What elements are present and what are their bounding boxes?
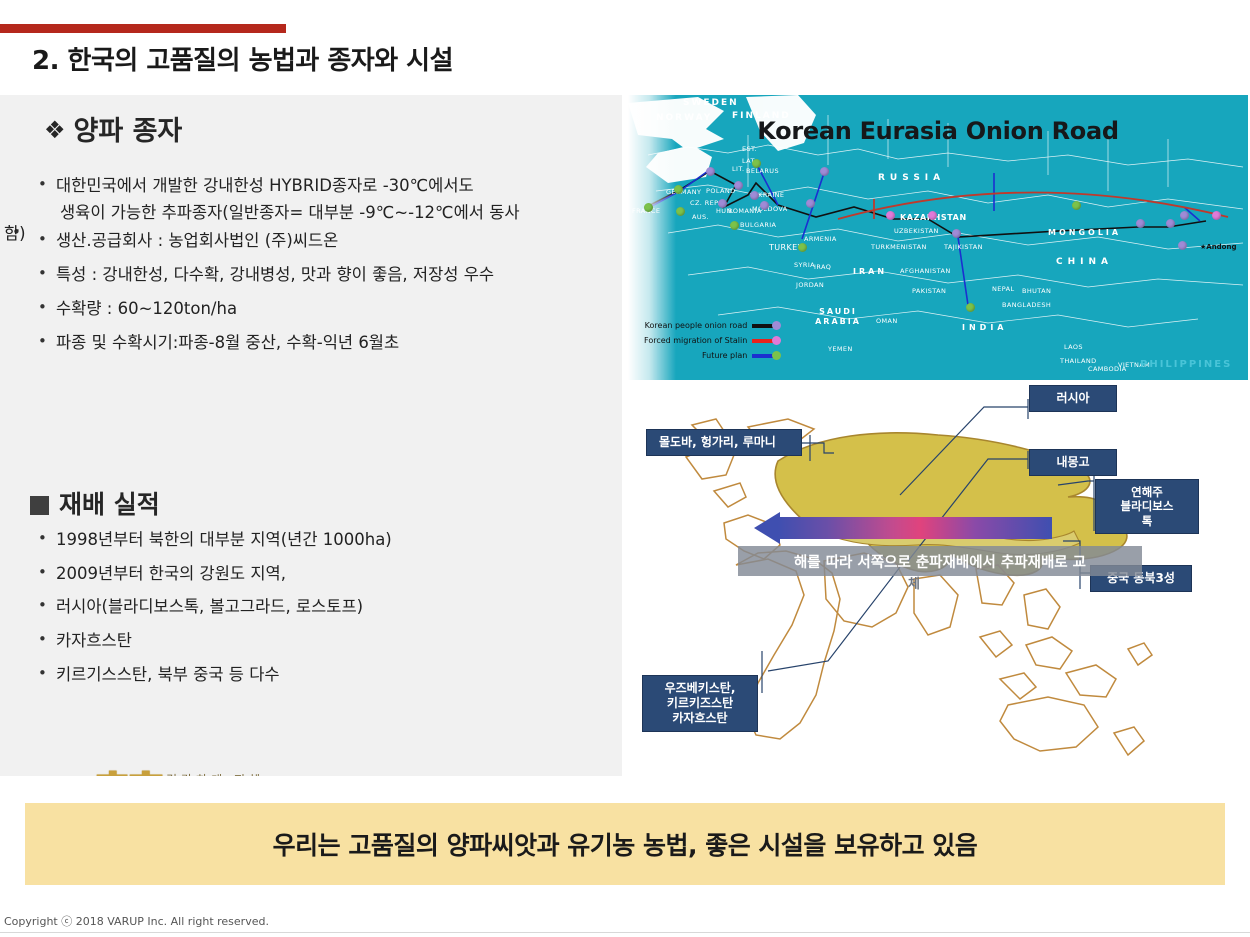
seed-bullet-1-line3: 함): [4, 221, 26, 248]
legend-item-future-plan: Future plan: [644, 351, 781, 360]
legend-dot-swatch: [772, 336, 781, 345]
country-label-belarus: BELARUS: [746, 167, 779, 175]
future-node: [798, 243, 807, 252]
summary-banner-text: 우리는 고품질의 양파씨앗과 유기농 농법, 좋은 시설을 보유하고 있음: [273, 826, 978, 862]
callout-primorye-line3: 톡: [1142, 514, 1153, 528]
stalin-route-node: [886, 211, 895, 220]
route-node: [750, 191, 759, 200]
country-label-poland: POLAND: [706, 187, 736, 195]
map-column: Korean Eurasia Onion Road SWEDEN FINLAND…: [628, 95, 1248, 776]
country-label-oman: OMAN: [876, 317, 898, 325]
country-label-nepal: NEPAL: [992, 285, 1015, 293]
slide-root: 2. 한국의 고품질의 농법과 종자와 시설 ❖양파 종자 대한민국에서 개발한…: [0, 0, 1250, 937]
list-item: 수확량 : 60~120ton/ha: [30, 296, 596, 323]
country-label-afghanistan: AFGHANISTAN: [900, 267, 951, 275]
map-title: Korean Eurasia Onion Road: [628, 117, 1248, 145]
eurasia-callout-map: 러시아 내몽고 연해주 블라디보스 톡 중국 동북3성 몰도바, 헝가리, 루마…: [628, 383, 1248, 776]
rotation-banner: 해를 따라 서쪽으로 춘파재배에서 추파재배로 교: [738, 546, 1142, 576]
diamond-marker-icon: ❖: [44, 116, 66, 144]
callout-central-asia-line1: 우즈베키스탄,: [665, 681, 736, 695]
arrow-body: [778, 517, 1052, 539]
legend-dot-swatch: [772, 321, 781, 330]
country-label-bulgaria: BULGARIA: [740, 221, 776, 229]
future-node: [730, 221, 739, 230]
route-node: [1166, 219, 1175, 228]
stalin-route-node: [1212, 211, 1221, 220]
stalin-route-node: [928, 211, 937, 220]
list-item: 생산.공급회사 : 농업회사법인 (주)씨드온: [30, 228, 596, 255]
list-item: 1998년부터 북한의 대부분 지역(년간 1000ha): [30, 527, 596, 554]
callout-central-asia: 우즈베키스탄, 키르키즈스탄 카자흐스탄: [642, 675, 758, 732]
country-label-germany: GERMANY: [666, 188, 701, 196]
route-node: [718, 199, 727, 208]
callout-central-asia-line3: 카자흐스탄: [672, 711, 727, 725]
route-node: [734, 181, 743, 190]
country-label-china: CHINA: [1056, 257, 1113, 267]
section-heading-seed: ❖양파 종자: [44, 109, 182, 148]
future-node: [966, 303, 975, 312]
map-marker-andong: ★Andong: [1200, 243, 1237, 251]
list-item: 특성 : 강내한성, 다수확, 강내병성, 맛과 향이 좋음, 저장성 우수: [30, 262, 596, 289]
route-node: [706, 167, 715, 176]
page-title: 2. 한국의 고품질의 농법과 종자와 시설: [32, 40, 453, 77]
route-node: [820, 167, 829, 176]
summary-banner: 우리는 고품질의 양파씨앗과 유기농 농법, 좋은 시설을 보유하고 있음: [25, 803, 1225, 885]
copyright-text: Copyright ⓒ 2018 VARUP Inc. All right re…: [4, 913, 269, 929]
country-label-norway: NORWAY: [656, 113, 712, 123]
record-bullet-list: 1998년부터 북한의 대부분 지역(년간 1000ha) 2009년부터 한국…: [30, 527, 596, 696]
future-node: [676, 207, 685, 216]
country-label-hungary: HUN.: [716, 207, 734, 215]
rotation-banner-cut: 체: [908, 573, 920, 592]
country-label-finland: FINLAND: [732, 111, 791, 121]
legend-item-korean-onion-road: Korean people onion road: [644, 321, 781, 330]
country-label-russia: RUSSIA: [878, 173, 945, 183]
list-item: 카자흐스탄: [30, 628, 596, 655]
country-label-sweden: SWEDEN: [683, 98, 739, 108]
country-label-syria: SYRIA: [794, 261, 815, 269]
legend-label: Future plan: [702, 351, 747, 360]
country-label-estonia: EST.: [742, 145, 757, 153]
logo-tagline: 건강하게 지혜: [166, 771, 264, 776]
future-node: [752, 159, 761, 168]
seed-bullet-list: 대한민국에서 개발한 강내한성 HYBRID종자로 -30℃에서도 생육이 가능…: [30, 173, 596, 363]
seed-bullet-1-line1: 대한민국에서 개발한 강내한성 HYBRID종자로 -30℃에서도: [56, 176, 474, 195]
callout-russia: 러시아: [1029, 385, 1117, 412]
country-label-turkmenistan: TURKMENISTAN: [871, 243, 927, 251]
country-label-lithuania: LIT.: [732, 165, 744, 173]
future-node: [674, 185, 683, 194]
eurasia-onion-road-map: Korean Eurasia Onion Road SWEDEN FINLAND…: [628, 95, 1248, 380]
country-label-armenia: ARMENIA: [804, 235, 837, 243]
country-label-tajikistan: TAJIKISTAN: [944, 243, 983, 251]
route-node: [806, 199, 815, 208]
future-node: [644, 203, 653, 212]
west-direction-arrow: [754, 517, 1052, 539]
callout-primorye-line2: 블라디보스: [1121, 499, 1174, 513]
legend-line-swatch: [752, 324, 774, 328]
map-legend: Korean people onion road Forced migratio…: [644, 321, 781, 366]
arrow-head-icon: [754, 512, 780, 544]
legend-label: Forced migration of Stalin: [644, 336, 747, 345]
title-accent-bar: [0, 24, 286, 33]
list-item: 파종 및 수확시기:파종-8월 중산, 수확-익년 6월초: [30, 330, 596, 357]
country-label-moldova: MOLDOVA: [752, 205, 788, 213]
list-item: 2009년부터 한국의 강원도 지역,: [30, 561, 596, 588]
square-marker-icon: [30, 496, 49, 515]
country-label-iraq: IRAQ: [814, 263, 831, 271]
section-heading-seed-label: 양파 종자: [74, 116, 183, 147]
country-label-philippines: PHILIPPINES: [1140, 359, 1232, 370]
country-label-mongolia: MONGOLIA: [1048, 228, 1121, 237]
legend-item-forced-migration: Forced migration of Stalin: [644, 336, 781, 345]
country-label-laos: LAOS: [1064, 343, 1083, 351]
country-label-thailand: THAILAND: [1060, 357, 1097, 365]
country-label-saudi-arabia: SAUDI ARABIA: [814, 307, 862, 326]
legend-line-swatch: [752, 339, 774, 343]
country-label-uzbekistan: UZBEKISTAN: [894, 227, 939, 235]
legend-dot-swatch: [772, 351, 781, 360]
legend-label: Korean people onion road: [645, 321, 748, 330]
left-content-panel: ❖양파 종자 대한민국에서 개발한 강내한성 HYBRID종자로 -30℃에서도…: [0, 95, 622, 776]
route-node: [760, 201, 769, 210]
seed-bullet-1-line2: 생육이 가능한 추파종자(일반종자= 대부분 -9℃~-12℃에서 동사: [60, 200, 520, 227]
route-node: [1178, 241, 1187, 250]
future-node: [1072, 201, 1081, 210]
country-label-yemen: YEMEN: [828, 345, 853, 353]
callout-central-asia-line2: 키르키즈스탄: [667, 696, 733, 710]
country-label-bhutan: BHUTAN: [1022, 287, 1051, 295]
list-item: 대한민국에서 개발한 강내한성 HYBRID종자로 -30℃에서도 생육이 가능…: [30, 173, 596, 226]
callout-moldova-hungary-romania: 몰도바, 헝가리, 루마니: [646, 429, 802, 456]
callout-primorye-line1: 연해주: [1131, 485, 1163, 499]
footer-divider: [0, 932, 1250, 933]
country-label-jordan: JORDAN: [796, 281, 824, 289]
route-node: [1136, 219, 1145, 228]
section-heading-record: 재배 실적: [30, 485, 160, 521]
country-label-czech: CZ. REP.: [690, 199, 720, 207]
callout-inner-mongolia: 내몽고: [1029, 449, 1117, 476]
list-item: 키르기스스탄, 북부 중국 등 다수: [30, 662, 596, 689]
callout-primorye-vladivostok: 연해주 블라디보스 톡: [1095, 479, 1199, 534]
country-label-bangladesh: BANGLADESH: [1002, 301, 1051, 309]
country-label-pakistan: PAKISTAN: [912, 287, 946, 295]
section-heading-record-label: 재배 실적: [59, 490, 160, 519]
route-node: [1180, 211, 1189, 220]
route-node: [952, 229, 961, 238]
legend-line-swatch: [752, 354, 774, 358]
list-item: 러시아(블라디보스톡, 볼고그라드, 로스토프): [30, 594, 596, 621]
country-label-iran: IRAN: [853, 267, 887, 276]
country-label-austria: AUS.: [692, 213, 709, 221]
country-label-india: INDIA: [962, 323, 1007, 332]
